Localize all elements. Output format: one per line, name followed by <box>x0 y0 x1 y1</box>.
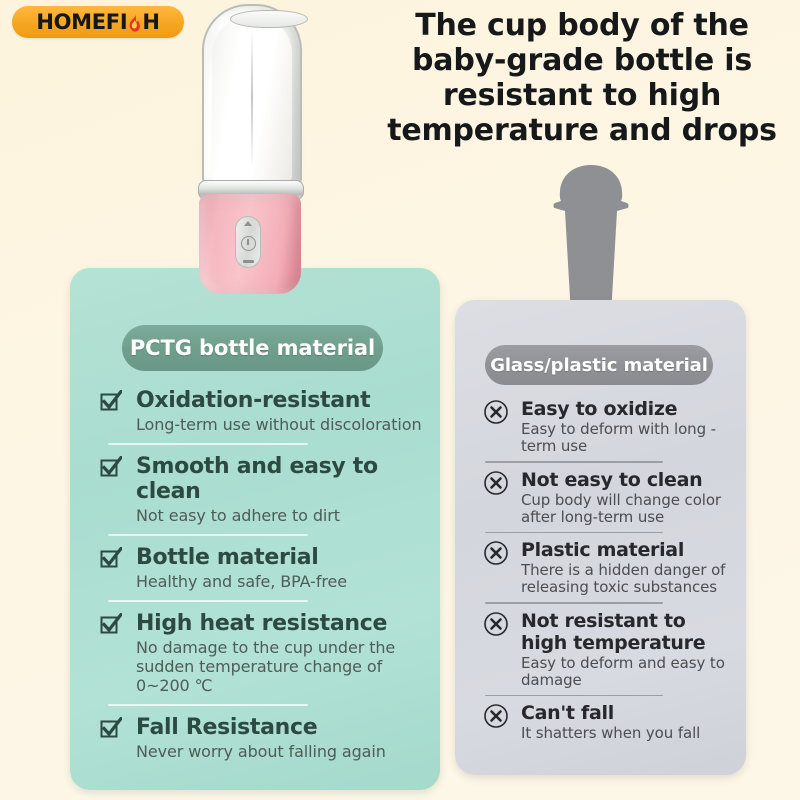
checkbox-check-icon <box>100 547 122 569</box>
drawback-subtitle: There is a hidden danger of releasing to… <box>521 562 731 596</box>
divider <box>485 602 663 604</box>
divider <box>485 695 663 697</box>
brand-logo-text-part2: OMEFI <box>54 12 128 33</box>
triangle-up-icon <box>244 221 252 226</box>
checkbox-check-icon <box>100 390 122 412</box>
headline: The cup body of the baby-grade bottle is… <box>372 8 792 148</box>
feature-title: High heat resistance <box>136 611 428 636</box>
list-item: Oxidation-resistant Long-term use withou… <box>98 388 428 434</box>
dash-icon <box>243 260 254 263</box>
brand-logo-text: HOMEFIH <box>36 12 159 33</box>
circle-x-icon <box>483 399 509 425</box>
glass-plastic-badge-label: Glass/plastic material <box>490 355 708 376</box>
brand-logo: HOMEFIH <box>12 6 184 38</box>
drawback-title: Easy to oxidize <box>521 398 731 420</box>
portable-blender-image <box>186 0 314 298</box>
blender-jar-highlight <box>251 28 253 168</box>
drawback-title: Not easy to clean <box>521 469 731 491</box>
divider <box>485 461 663 463</box>
drawback-title: Plastic material <box>521 539 731 561</box>
drawback-subtitle: Easy to deform with long -term use <box>521 421 731 455</box>
pctg-comparison-panel: PCTG bottle material Oxidation-resistant… <box>70 268 440 790</box>
divider <box>108 443 308 445</box>
list-item: High heat resistance No damage to the cu… <box>98 611 428 695</box>
drawback-subtitle: Cup body will change color after long-te… <box>521 492 731 526</box>
power-button-icon <box>241 236 256 251</box>
infographic-canvas: HOMEFIH The cup body of the baby-grade b… <box>0 0 800 800</box>
checkbox-check-icon <box>100 456 122 478</box>
divider <box>108 600 308 602</box>
headline-line-1: The cup body of the <box>372 8 792 43</box>
list-item: Not easy to clean Cup body will change c… <box>481 469 731 526</box>
list-item: Not resistant to high temperature Easy t… <box>481 610 731 689</box>
list-item: Fall Resistance Never worry about fallin… <box>98 715 428 761</box>
list-item: Easy to oxidize Easy to deform with long… <box>481 398 731 455</box>
pctg-badge-label: PCTG bottle material <box>130 336 375 360</box>
divider <box>108 534 308 536</box>
headline-line-3: resistant to high <box>372 78 792 113</box>
feature-title: Oxidation-resistant <box>136 388 428 413</box>
headline-line-2: baby-grade bottle is <box>372 43 792 78</box>
blender-control-panel <box>235 216 261 268</box>
blender-jar <box>202 4 302 188</box>
drawback-subtitle: It shatters when you fall <box>521 725 731 742</box>
pctg-feature-list: Oxidation-resistant Long-term use withou… <box>98 388 428 763</box>
feature-subtitle: Never worry about falling again <box>136 742 428 761</box>
list-item: Can't fall It shatters when you fall <box>481 702 731 742</box>
feature-subtitle: No damage to the cup under the sudden te… <box>136 638 428 695</box>
list-item: Smooth and easy to clean Not easy to adh… <box>98 454 428 525</box>
blender-motor-base <box>199 194 301 294</box>
list-item: Plastic material There is a hidden dange… <box>481 539 731 596</box>
pctg-badge: PCTG bottle material <box>122 325 383 371</box>
circle-x-icon <box>483 611 509 637</box>
headline-line-4: temperature and drops <box>372 113 792 148</box>
brand-logo-text-part1: H <box>36 12 53 33</box>
divider <box>108 704 308 706</box>
glass-plastic-comparison-panel: Glass/plastic material Easy to oxidize E… <box>455 300 746 775</box>
feature-title: Fall Resistance <box>136 715 428 740</box>
checkbox-check-icon <box>100 717 122 739</box>
list-item: Bottle material Healthy and safe, BPA-fr… <box>98 545 428 591</box>
drawback-subtitle: Easy to deform and easy to damage <box>521 655 731 689</box>
feature-title: Bottle material <box>136 545 428 570</box>
feature-title: Smooth and easy to clean <box>136 454 428 504</box>
drawback-title: Can't fall <box>521 702 731 724</box>
glass-plastic-badge: Glass/plastic material <box>485 345 713 385</box>
feature-subtitle: Not easy to adhere to dirt <box>136 506 428 525</box>
feature-subtitle: Long-term use without discoloration <box>136 415 428 434</box>
brand-logo-text-part3: H <box>142 12 159 33</box>
glass-plastic-drawback-list: Easy to oxidize Easy to deform with long… <box>481 398 731 744</box>
feature-subtitle: Healthy and safe, BPA-free <box>136 572 428 591</box>
circle-x-icon <box>483 540 509 566</box>
checkbox-check-icon <box>100 613 122 635</box>
divider <box>485 532 663 534</box>
drawback-title: Not resistant to high temperature <box>521 610 731 654</box>
circle-x-icon <box>483 703 509 729</box>
blender-jar-lid <box>230 10 308 28</box>
circle-x-icon <box>483 470 509 496</box>
flame-icon <box>128 13 141 32</box>
